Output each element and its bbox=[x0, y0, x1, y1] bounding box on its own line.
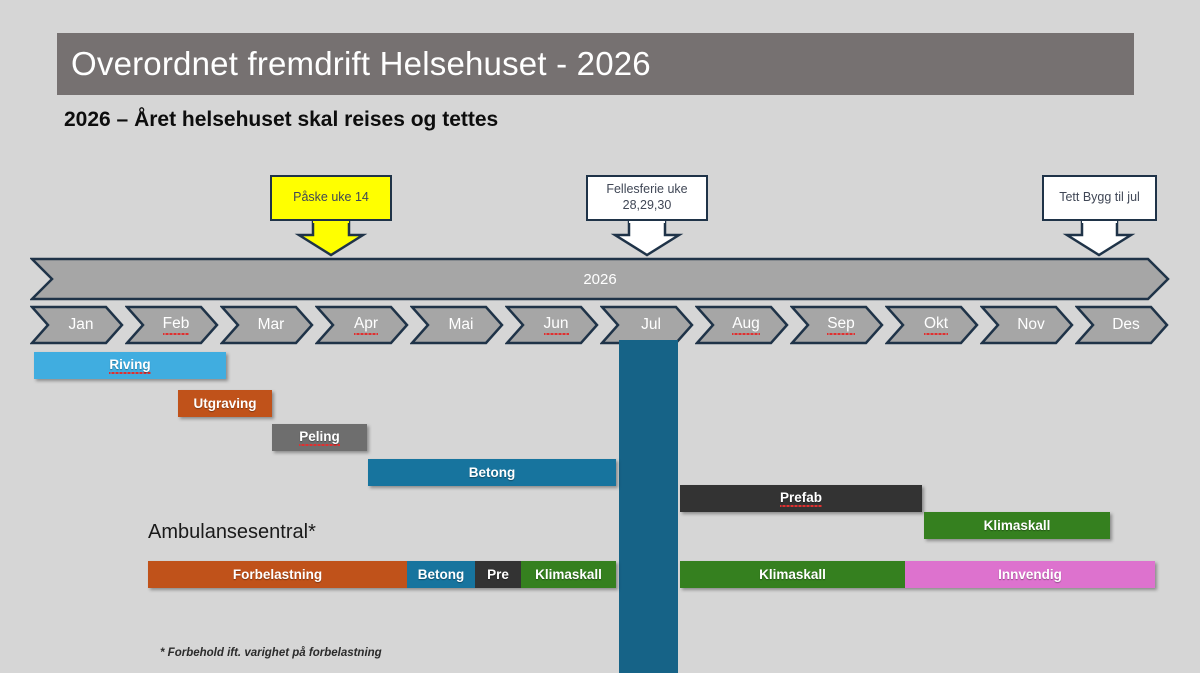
task-bar-betong-label: Betong bbox=[469, 465, 516, 480]
task-bar-prefab[interactable]: Prefab bbox=[680, 485, 922, 512]
month-chevron-mai[interactable]: Mai bbox=[410, 305, 504, 345]
month-chevron-label: Nov bbox=[980, 305, 1074, 345]
month-chevron-apr[interactable]: Apr bbox=[315, 305, 409, 345]
task-bar-utgraving-label: Utgraving bbox=[193, 396, 256, 411]
callout-tettbygg-label: Tett Bygg til jul bbox=[1059, 190, 1140, 206]
callout-paske-arrow-icon bbox=[270, 221, 392, 257]
task-bar-utgraving[interactable]: Utgraving bbox=[178, 390, 272, 417]
month-chevron-des[interactable]: Des bbox=[1075, 305, 1169, 345]
task-bar-riving[interactable]: Riving bbox=[34, 352, 226, 379]
ambulansesentral-bar-row-2[interactable]: KlimaskallInnvendig bbox=[680, 561, 1155, 588]
callout-paske-box: Påske uke 14 bbox=[270, 175, 392, 221]
segment-label: Innvendig bbox=[998, 567, 1062, 582]
footnote: * Forbehold ift. varighet på forbelastni… bbox=[160, 647, 382, 659]
month-chevron-label: Jan bbox=[30, 305, 124, 345]
year-band: 2026 bbox=[30, 257, 1170, 301]
segment-label: Forbelastning bbox=[233, 567, 322, 582]
month-chevron-aug[interactable]: Aug bbox=[695, 305, 789, 345]
month-chevron-nov[interactable]: Nov bbox=[980, 305, 1074, 345]
segment-label: Klimaskall bbox=[535, 567, 602, 582]
callout-fellesferie-line2: 28,29,30 bbox=[623, 198, 672, 214]
task-bar-peling-label: Peling bbox=[299, 429, 340, 446]
month-chevron-label: Des bbox=[1075, 305, 1169, 345]
month-chevron-label: Jul bbox=[600, 305, 694, 345]
task-bar-prefab-label: Prefab bbox=[780, 490, 822, 507]
slide-title-bar: Overordnet fremdrift Helsehuset - 2026 bbox=[57, 33, 1134, 95]
callout-tettbygg-box: Tett Bygg til jul bbox=[1042, 175, 1157, 221]
month-chevron-label: Apr bbox=[315, 305, 409, 345]
month-chevron-jan[interactable]: Jan bbox=[30, 305, 124, 345]
month-chevron-label: Mai bbox=[410, 305, 504, 345]
task-bar-klimaskall-label: Klimaskall bbox=[984, 518, 1051, 533]
ambulansesentral-segment-pre[interactable]: Pre bbox=[475, 561, 521, 588]
month-chevron-jun[interactable]: Jun bbox=[505, 305, 599, 345]
month-chevron-sep[interactable]: Sep bbox=[790, 305, 884, 345]
page-title: Overordnet fremdrift Helsehuset - 2026 bbox=[57, 45, 651, 83]
callout-paske-label: Påske uke 14 bbox=[293, 190, 369, 206]
segment-label: Klimaskall bbox=[759, 567, 826, 582]
month-chevron-label: Mar bbox=[220, 305, 314, 345]
ambulansesentral-segment-forbelastning[interactable]: Forbelastning bbox=[148, 561, 407, 588]
page-subtitle: 2026 – Året helsehuset skal reises og te… bbox=[64, 108, 498, 132]
july-highlight-band bbox=[619, 340, 678, 673]
callout-fellesferie-box: Fellesferie uke 28,29,30 bbox=[586, 175, 708, 221]
callout-fellesferie-line1: Fellesferie uke bbox=[606, 182, 687, 198]
ambulansesentral-bar-row-1[interactable]: ForbelastningBetongPreKlimaskall bbox=[148, 561, 616, 588]
month-chevron-label: Aug bbox=[695, 305, 789, 345]
slide-canvas: Overordnet fremdrift Helsehuset - 2026 2… bbox=[0, 0, 1200, 673]
month-chevron-label: Sep bbox=[790, 305, 884, 345]
task-bar-klimaskall[interactable]: Klimaskall bbox=[924, 512, 1110, 539]
ambulansesentral-segment-innvendig[interactable]: Innvendig bbox=[905, 561, 1155, 588]
month-chevron-label: Okt bbox=[885, 305, 979, 345]
ambulansesentral-segment-klimaskall[interactable]: Klimaskall bbox=[680, 561, 905, 588]
ambulansesentral-title: Ambulansesentral* bbox=[148, 521, 316, 544]
callout-fellesferie[interactable]: Fellesferie uke 28,29,30 bbox=[586, 175, 708, 257]
segment-label: Betong bbox=[418, 567, 465, 582]
task-bar-betong[interactable]: Betong bbox=[368, 459, 616, 486]
ambulansesentral-segment-klimaskall[interactable]: Klimaskall bbox=[521, 561, 616, 588]
callout-paske[interactable]: Påske uke 14 bbox=[270, 175, 392, 257]
year-label: 2026 bbox=[30, 257, 1170, 301]
ambulansesentral-segment-betong[interactable]: Betong bbox=[407, 561, 475, 588]
task-bar-peling[interactable]: Peling bbox=[272, 424, 367, 451]
callout-tettbygg[interactable]: Tett Bygg til jul bbox=[1042, 175, 1157, 257]
callout-fellesferie-arrow-icon bbox=[586, 221, 708, 257]
month-chevron-mar[interactable]: Mar bbox=[220, 305, 314, 345]
month-chevron-label: Feb bbox=[125, 305, 219, 345]
month-chevron-label: Jun bbox=[505, 305, 599, 345]
callout-tettbygg-arrow-icon bbox=[1042, 221, 1157, 257]
task-bar-riving-label: Riving bbox=[109, 357, 150, 374]
month-chevron-okt[interactable]: Okt bbox=[885, 305, 979, 345]
month-chevron-jul[interactable]: Jul bbox=[600, 305, 694, 345]
month-chevron-feb[interactable]: Feb bbox=[125, 305, 219, 345]
month-chevron-row: JanFebMarAprMaiJunJulAugSepOktNovDes bbox=[30, 305, 1170, 345]
segment-label: Pre bbox=[487, 567, 509, 582]
